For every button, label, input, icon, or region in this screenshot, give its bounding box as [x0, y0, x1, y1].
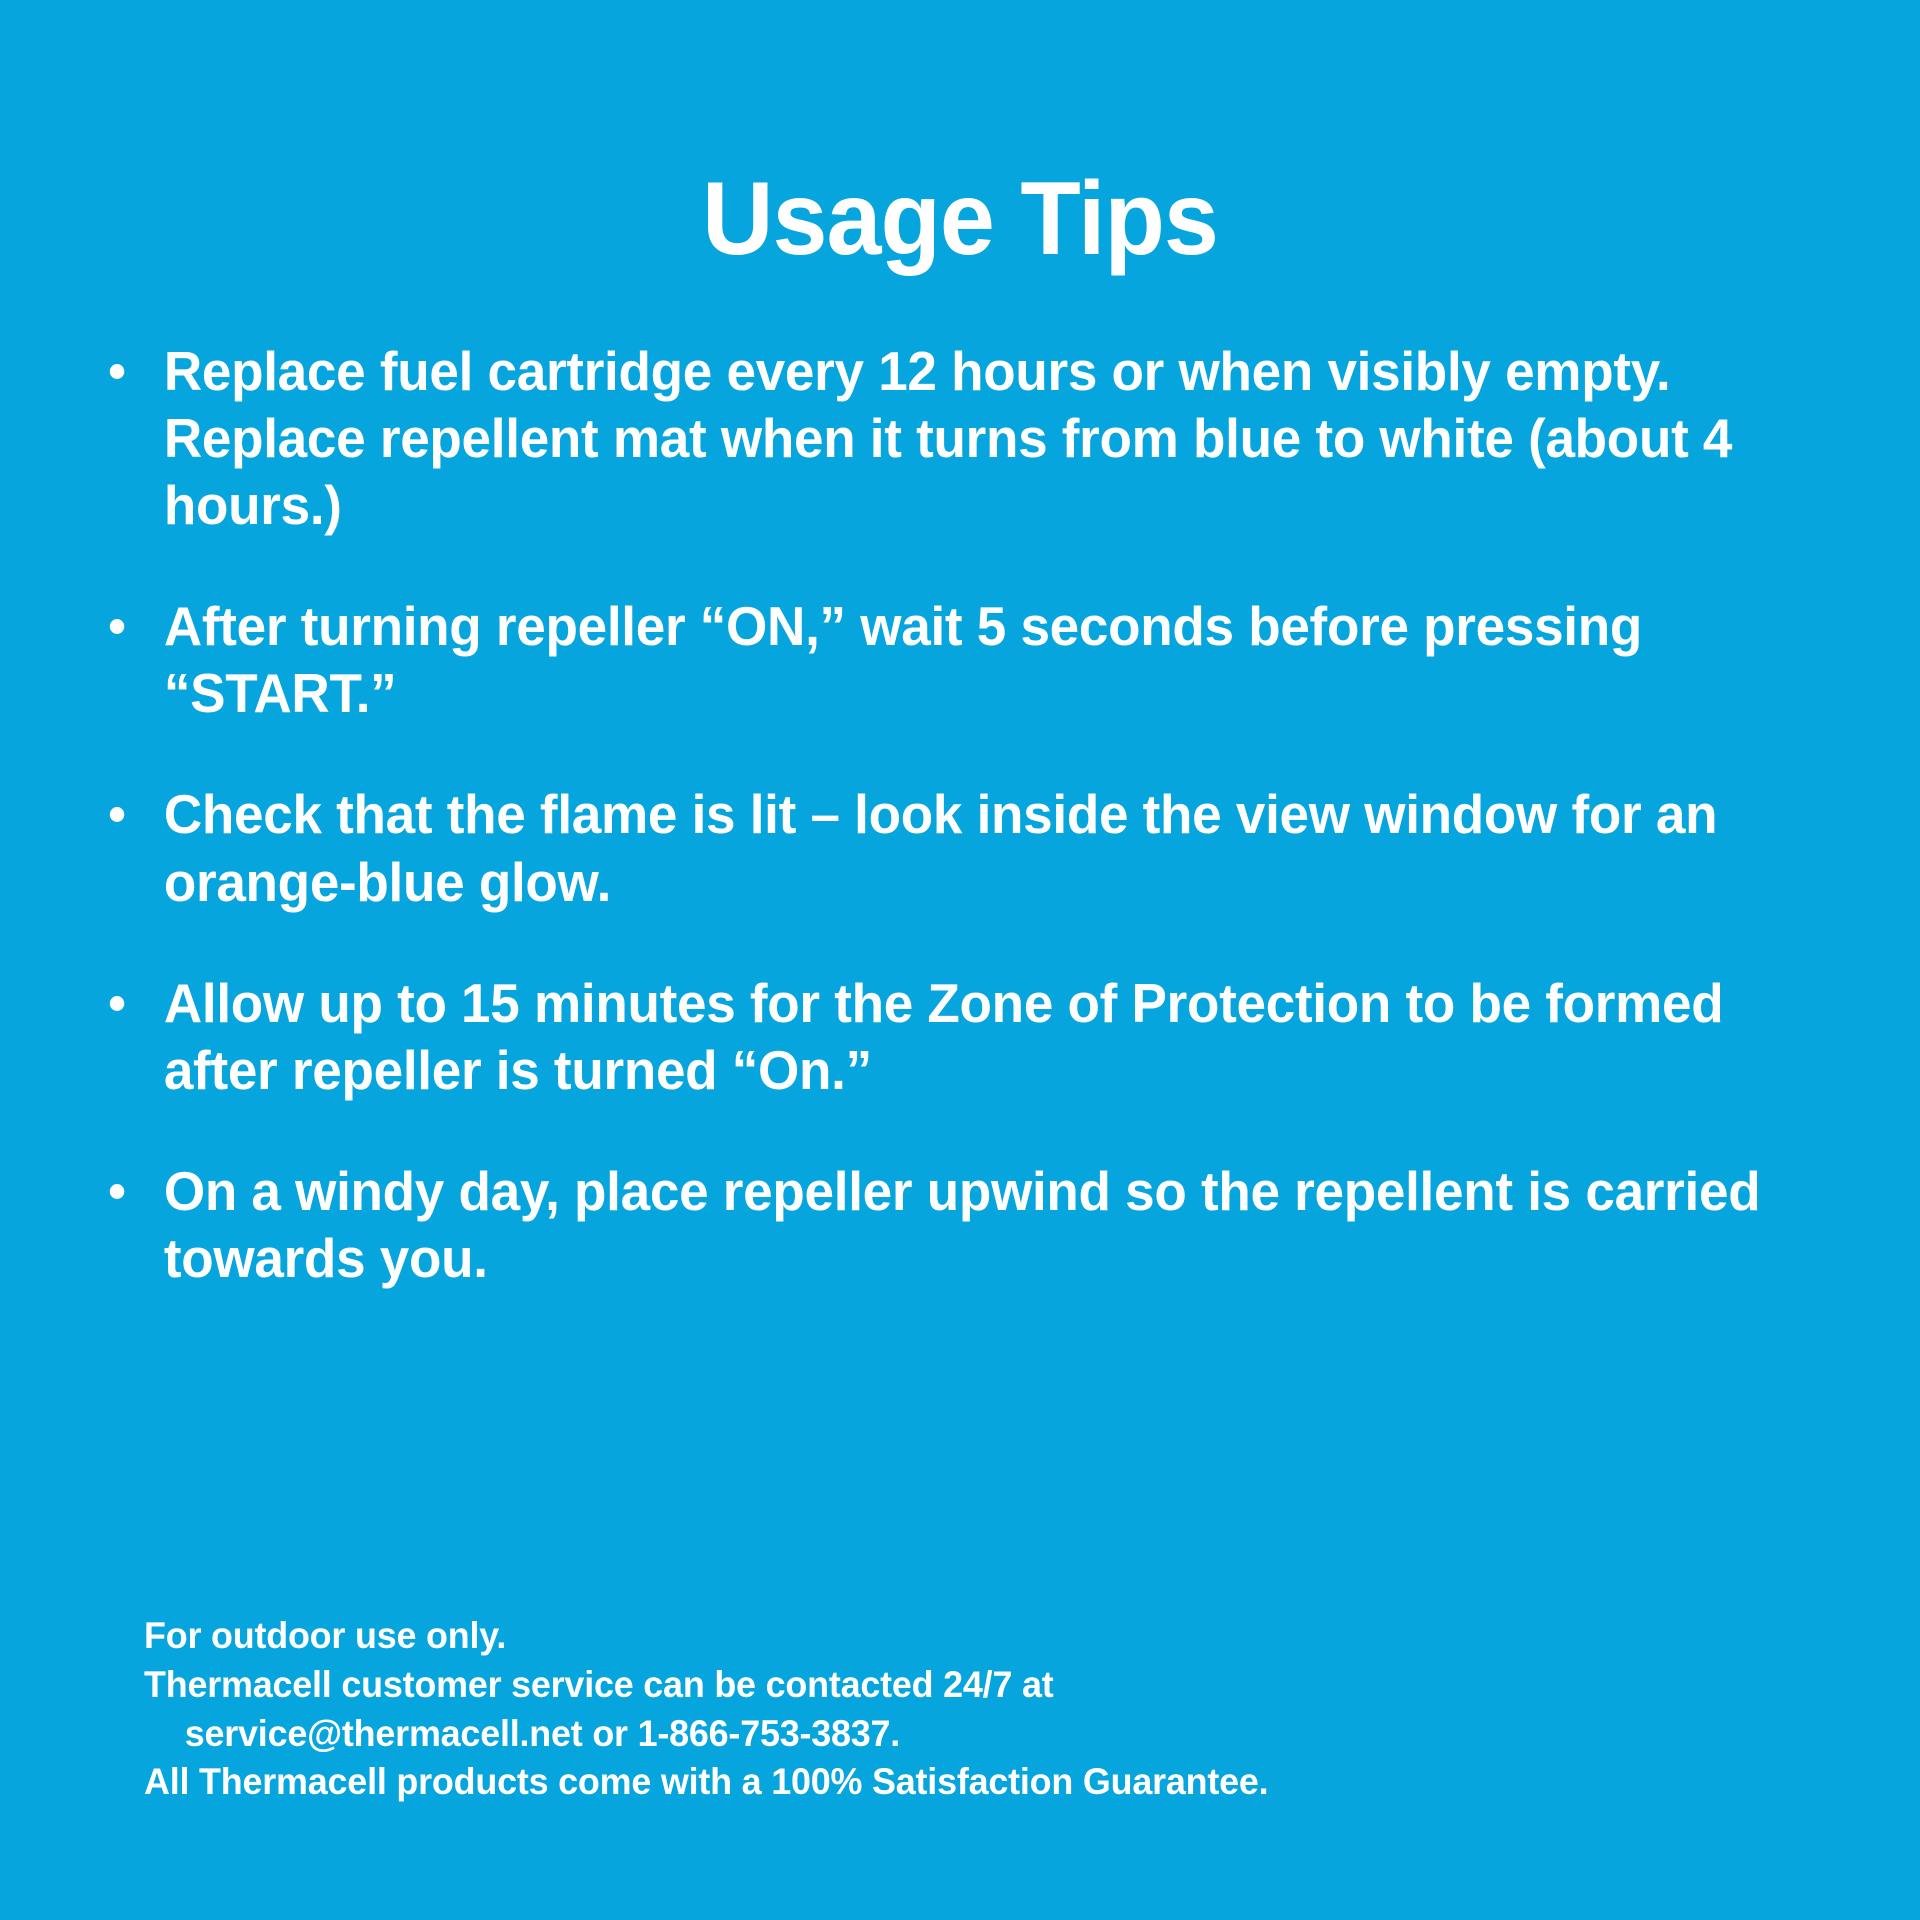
list-item: Check that the flame is lit – look insid…: [104, 781, 1802, 915]
list-item: On a windy day, place repeller upwind so…: [104, 1158, 1802, 1292]
list-item: After turning repeller “ON,” wait 5 seco…: [104, 593, 1802, 727]
bullet-dot-icon: [110, 364, 124, 379]
list-item: Replace fuel cartridge every 12 hours or…: [104, 338, 1802, 539]
bullet-dot-icon: [110, 1184, 124, 1199]
bullet-dot-icon: [110, 619, 124, 634]
list-item-label: Check that the flame is lit – look insid…: [164, 781, 1803, 915]
footer-line-outdoor-use: For outdoor use only.: [144, 1612, 1696, 1661]
list-item-label: Allow up to 15 minutes for the Zone of P…: [164, 970, 1803, 1104]
page-title: Usage Tips: [48, 162, 1872, 276]
list-item-label: After turning repeller “ON,” wait 5 seco…: [164, 593, 1803, 727]
bullet-dot-icon: [110, 996, 124, 1011]
usage-tips-list: Replace fuel cartridge every 12 hours or…: [104, 338, 1864, 1292]
list-item: Allow up to 15 minutes for the Zone of P…: [104, 970, 1802, 1104]
footer-line-contact: service@thermacell.net or 1-866-753-3837…: [144, 1710, 1696, 1759]
footer-notes: For outdoor use only. Thermacell custome…: [144, 1612, 1696, 1807]
bullet-dot-icon: [110, 807, 124, 822]
list-item-label: On a windy day, place repeller upwind so…: [164, 1158, 1803, 1292]
footer-line-customer-service: Thermacell customer service can be conta…: [144, 1661, 1696, 1710]
usage-tips-card: Usage Tips Replace fuel cartridge every …: [0, 0, 1920, 1920]
list-item-label: Replace fuel cartridge every 12 hours or…: [164, 338, 1803, 539]
footer-line-guarantee: All Thermacell products come with a 100%…: [144, 1758, 1696, 1807]
